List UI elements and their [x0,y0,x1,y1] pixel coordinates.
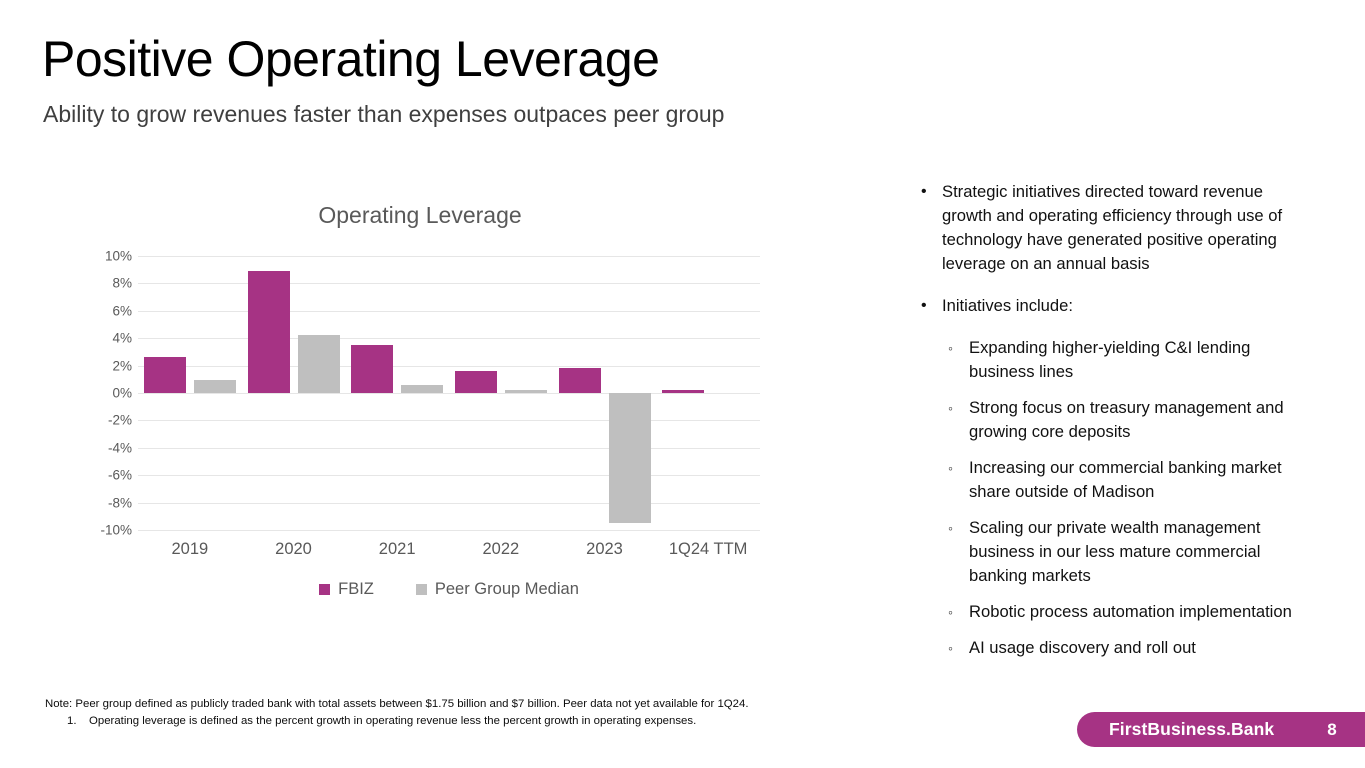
chart-bar-peer-group-median-2020 [298,335,340,393]
chart-x-axis: 201920202021202220231Q24 TTM [138,540,760,568]
page-subtitle: Ability to grow revenues faster than exp… [43,101,724,128]
chart-gridline [138,283,760,284]
chart-gridline [138,530,760,531]
y-axis-tick-label: -6% [86,468,132,483]
page-title: Positive Operating Leverage [42,33,659,86]
chart-plot-area [138,256,760,530]
bullet-secondary: Expanding higher-yielding C&I lending bu… [916,336,1316,384]
bullet-secondary: Increasing our commercial banking market… [916,456,1316,504]
y-axis-tick-label: 4% [86,331,132,346]
legend-item-peer-group-median: Peer Group Median [416,580,579,599]
operating-leverage-chart: Operating Leverage 10%8%6%4%2%0%-2%-4%-6… [60,180,850,620]
chart-bar-fbiz-1q24-ttm [662,390,704,393]
chart-bar-fbiz-2020 [248,271,290,393]
y-axis-tick-label: 0% [86,386,132,401]
y-axis-tick-label: -10% [86,523,132,538]
y-axis-tick-label: -8% [86,495,132,510]
chart-bar-peer-group-median-2023 [609,393,651,523]
chart-title: Operating Leverage [60,202,780,229]
footnote-note: Note: Peer group defined as publicly tra… [45,696,905,713]
chart-bar-fbiz-2019 [144,357,186,393]
y-axis-tick-label: 2% [86,358,132,373]
chart-gridline [138,393,760,394]
chart-y-axis: 10%8%6%4%2%0%-2%-4%-6%-8%-10% [80,256,132,530]
bullet-secondary: Robotic process automation implementatio… [916,600,1316,624]
bullet-secondary: Scaling our private wealth management bu… [916,516,1316,588]
chart-gridline [138,503,760,504]
bullet-primary: Strategic initiatives directed toward re… [916,180,1316,276]
legend-item-fbiz: FBIZ [319,580,374,599]
y-axis-tick-label: -2% [86,413,132,428]
bullet-secondary: AI usage discovery and roll out [916,636,1316,660]
chart-gridline [138,311,760,312]
x-axis-tick-label: 2019 [171,540,208,559]
chart-bar-fbiz-2021 [351,345,393,393]
brand-footer-badge: FirstBusiness.Bank 8 [1077,712,1365,747]
y-axis-tick-label: 8% [86,276,132,291]
chart-bar-peer-group-median-2021 [401,385,443,393]
legend-swatch-icon [416,584,427,595]
chart-gridline [138,366,760,367]
y-axis-tick-label: 6% [86,303,132,318]
chart-gridline [138,448,760,449]
chart-gridline [138,420,760,421]
page-number: 8 [1327,720,1336,740]
y-axis-tick-label: -4% [86,440,132,455]
chart-legend: FBIZPeer Group Median [138,580,760,599]
x-axis-tick-label: 2021 [379,540,416,559]
chart-bar-peer-group-median-2022 [505,390,547,393]
chart-gridline [138,256,760,257]
footnote-text: Operating leverage is defined as the per… [89,715,696,727]
y-axis-tick-label: 10% [86,249,132,264]
legend-label: Peer Group Median [435,580,579,599]
initiatives-list: Strategic initiatives directed toward re… [916,180,1316,672]
legend-label: FBIZ [338,580,374,599]
chart-gridline [138,475,760,476]
chart-bar-peer-group-median-2019 [194,380,236,393]
chart-gridline [138,338,760,339]
x-axis-tick-label: 2023 [586,540,623,559]
brand-name: FirstBusiness.Bank [1109,719,1274,740]
chart-bar-fbiz-2022 [455,371,497,393]
x-axis-tick-label: 2022 [482,540,519,559]
footnotes: Note: Peer group defined as publicly tra… [45,696,905,730]
footnote-item-1: 1.Operating leverage is defined as the p… [45,713,905,730]
chart-bar-fbiz-2023 [559,368,601,393]
legend-swatch-icon [319,584,330,595]
bullet-secondary: Strong focus on treasury management and … [916,396,1316,444]
footnote-number: 1. [67,713,89,730]
x-axis-tick-label: 2020 [275,540,312,559]
bullet-primary: Initiatives include: [916,294,1316,318]
x-axis-tick-label: 1Q24 TTM [669,540,748,559]
